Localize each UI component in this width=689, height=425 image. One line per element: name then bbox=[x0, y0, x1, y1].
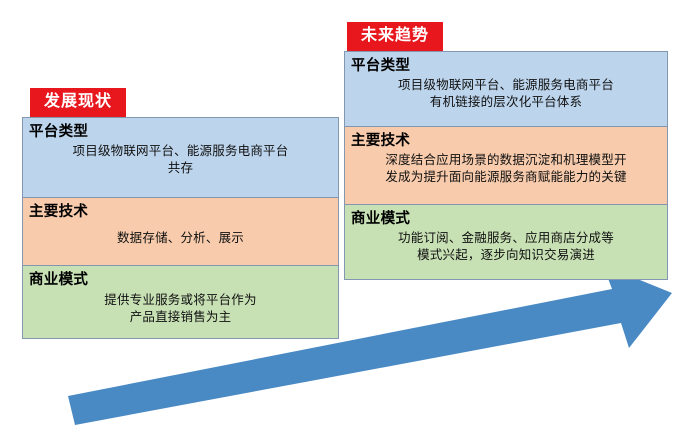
card-body-line: 功能订阅、金融服务、应用商店分成等 bbox=[351, 230, 661, 247]
card-body-line: 提供专业服务或将平台作为 bbox=[29, 292, 332, 309]
column-current-status: 发展现状 平台类型 项目级物联网平台、能源服务电商平台 共存 主要技术 数据存储… bbox=[22, 88, 339, 339]
card-body-line: 项目级物联网平台、能源服务电商平台 bbox=[29, 143, 332, 160]
card-body: 项目级物联网平台、能源服务电商平台 共存 bbox=[29, 143, 332, 177]
card-title: 平台类型 bbox=[351, 57, 661, 76]
card-future-platform-type: 平台类型 项目级物联网平台、能源服务电商平台 有机链接的层次化平台体系 bbox=[344, 51, 668, 127]
card-body-line: 有机链接的层次化平台体系 bbox=[351, 94, 661, 111]
column-future-trend: 未来趋势 平台类型 项目级物联网平台、能源服务电商平台 有机链接的层次化平台体系… bbox=[344, 22, 668, 280]
card-body-line: 产品直接销售为主 bbox=[29, 309, 332, 326]
card-body-line: 数据存储、分析、展示 bbox=[29, 230, 332, 247]
card-title: 主要技术 bbox=[351, 132, 661, 151]
card-title: 平台类型 bbox=[29, 123, 332, 142]
card-current-key-technology: 主要技术 数据存储、分析、展示 bbox=[22, 198, 339, 266]
card-body-line: 深度结合应用场景的数据沉淀和机理模型开 bbox=[351, 152, 661, 169]
card-body-line: 共存 bbox=[29, 160, 332, 177]
card-current-platform-type: 平台类型 项目级物联网平台、能源服务电商平台 共存 bbox=[22, 117, 339, 198]
card-future-business-model: 商业模式 功能订阅、金融服务、应用商店分成等 模式兴起，逐步向知识交易演进 bbox=[344, 205, 668, 280]
card-body-line: 项目级物联网平台、能源服务电商平台 bbox=[351, 77, 661, 94]
card-title: 商业模式 bbox=[351, 210, 661, 229]
tab-label-current-status: 发展现状 bbox=[30, 88, 126, 117]
card-body: 深度结合应用场景的数据沉淀和机理模型开 发成为提升面向能源服务商赋能能力的关键 bbox=[351, 152, 661, 186]
card-body: 项目级物联网平台、能源服务电商平台 有机链接的层次化平台体系 bbox=[351, 77, 661, 111]
card-body-line: 模式兴起，逐步向知识交易演进 bbox=[351, 247, 661, 264]
card-body: 提供专业服务或将平台作为 产品直接销售为主 bbox=[29, 292, 332, 326]
card-body: 数据存储、分析、展示 bbox=[29, 230, 332, 247]
card-title: 商业模式 bbox=[29, 271, 332, 290]
card-body-line: 发成为提升面向能源服务商赋能能力的关键 bbox=[351, 169, 661, 186]
card-current-business-model: 商业模式 提供专业服务或将平台作为 产品直接销售为主 bbox=[22, 266, 339, 339]
card-future-key-technology: 主要技术 深度结合应用场景的数据沉淀和机理模型开 发成为提升面向能源服务商赋能能… bbox=[344, 127, 668, 205]
card-body: 功能订阅、金融服务、应用商店分成等 模式兴起，逐步向知识交易演进 bbox=[351, 230, 661, 264]
diagram-canvas: 发展现状 平台类型 项目级物联网平台、能源服务电商平台 共存 主要技术 数据存储… bbox=[0, 0, 689, 425]
card-title: 主要技术 bbox=[29, 203, 332, 222]
tab-label-future-trend: 未来趋势 bbox=[347, 22, 443, 51]
